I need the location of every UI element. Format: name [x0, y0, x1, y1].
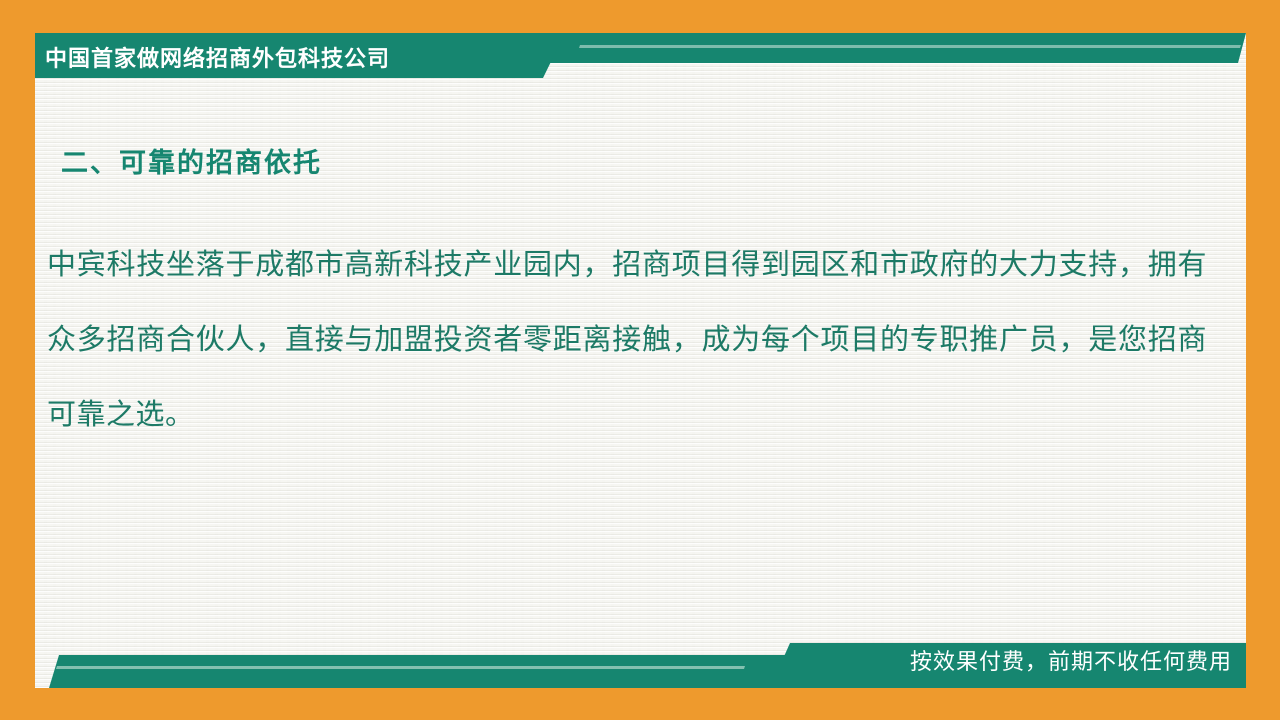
- footer-thin-bar: [49, 655, 1246, 688]
- body-copy: 中宾科技坐落于成都市高新科技产业园内，招商项目得到园区和市政府的大力支持，拥有众…: [47, 228, 1207, 453]
- section-heading: 二、可靠的招商依托: [61, 141, 322, 180]
- footer-shape-group: [35, 628, 1246, 688]
- footer-highlight-line: [56, 666, 745, 669]
- footer-tagline: 按效果付费，前期不收任何费用: [910, 644, 1232, 676]
- header-title: 中国首家做网络招商外包科技公司: [45, 39, 390, 75]
- header-shape-group: [35, 33, 1246, 78]
- footer-band: 按效果付费，前期不收任何费用: [35, 628, 1246, 688]
- header-band: 中国首家做网络招商外包科技公司: [35, 33, 1246, 78]
- body-paragraph: 中宾科技坐落于成都市高新科技产业园内，招商项目得到园区和市政府的大力支持，拥有众…: [47, 228, 1207, 453]
- footer-right-block: [770, 643, 1246, 688]
- header-highlight-line: [579, 45, 1241, 48]
- header-thin-bar: [35, 33, 1246, 63]
- slide-canvas: 中国首家做网络招商外包科技公司 二、可靠的招商依托 中宾科技坐落于成都市高新科技…: [35, 33, 1246, 688]
- slide-root: 中国首家做网络招商外包科技公司 二、可靠的招商依托 中宾科技坐落于成都市高新科技…: [0, 0, 1280, 720]
- header-left-block: [35, 33, 565, 78]
